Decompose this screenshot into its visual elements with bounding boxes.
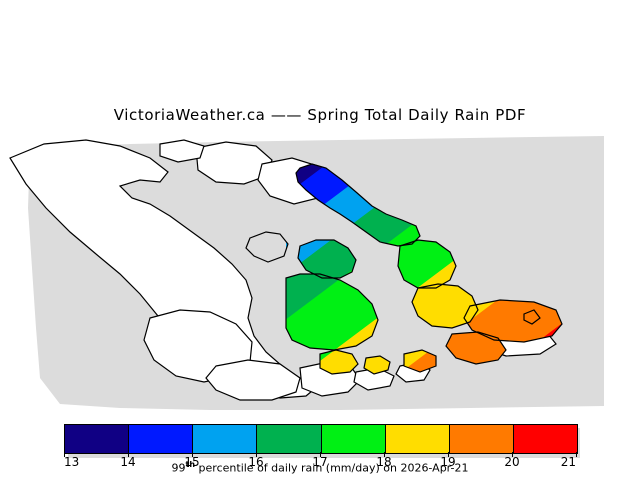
colorbar-segment-17-18 <box>322 425 386 453</box>
colorbar-tick-label-16: 16 <box>248 455 263 469</box>
colorbar[interactable] <box>64 424 578 454</box>
page-title: VictoriaWeather.ca —— Spring Total Daily… <box>0 106 640 124</box>
screenshot-root: VictoriaWeather.ca —— Spring Total Daily… <box>0 0 640 480</box>
colorbar-segment-20-21 <box>514 425 577 453</box>
colorbar-tick-label-19: 19 <box>440 455 455 469</box>
colorbar-tick-label-20: 20 <box>504 455 519 469</box>
colorbar-segment-18-19 <box>386 425 450 453</box>
map-svg <box>0 128 640 416</box>
colorbar-segment-15-16 <box>193 425 257 453</box>
colorbar-segment-13-14 <box>65 425 129 453</box>
colorbar-segment-19-20 <box>450 425 514 453</box>
colorbar-tick-label-15: 15 <box>184 455 199 469</box>
colorbar-tick-label-21: 21 <box>561 455 576 469</box>
colorbar-segment-16-17 <box>257 425 321 453</box>
colorbar-tick-label-17: 17 <box>312 455 327 469</box>
colorbar-segment-14-15 <box>129 425 193 453</box>
caption-text: percentile of daily rain (mm/day) on 202… <box>195 462 468 475</box>
colorbar-tick-label-18: 18 <box>376 455 391 469</box>
map-canvas[interactable] <box>0 128 640 416</box>
colorbar-tick-21 <box>576 452 577 457</box>
colorbar-tick-label-13: 13 <box>64 455 79 469</box>
colorbar-tick-label-14: 14 <box>120 455 135 469</box>
